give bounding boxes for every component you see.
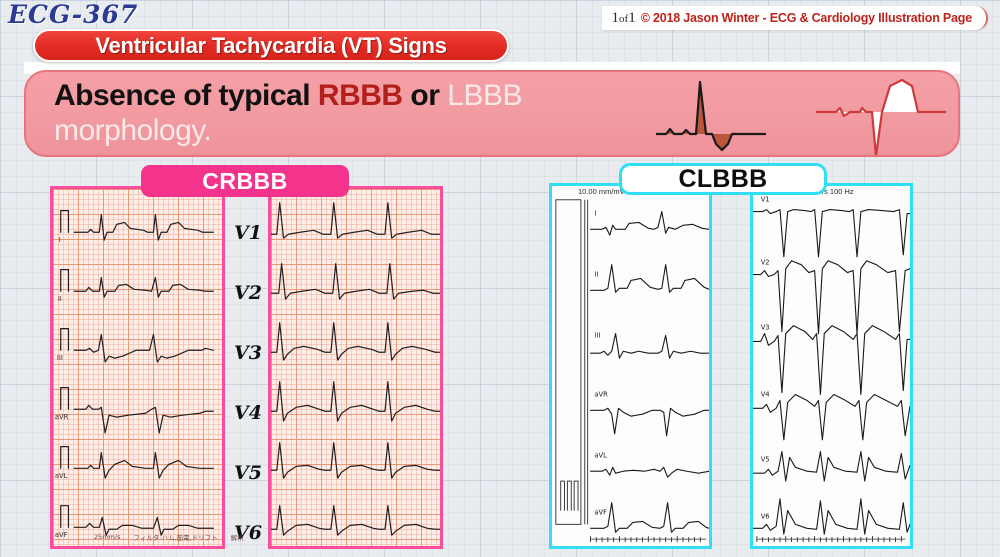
footer-filter: フィルタ:ハム,筋電,ドリフト xyxy=(134,532,218,542)
ecg-tracing-crbbb-limb: I II III aVR aVL aVF xyxy=(53,189,222,546)
lead-label-v3: V3 xyxy=(228,342,268,364)
svg-text:V6: V6 xyxy=(761,512,770,520)
svg-text:V3: V3 xyxy=(761,324,770,332)
svg-text:II: II xyxy=(58,295,62,303)
slide-code: ECG-367 xyxy=(8,0,138,29)
ecg-tracing-clbbb-limb: I II III aVR aVL aVF xyxy=(552,186,709,546)
ecg-panel-crbbb-precordial[interactable] xyxy=(268,186,443,549)
lead-label-v5: V5 xyxy=(228,462,268,484)
ecg-tracing-crbbb-precordial xyxy=(271,189,440,546)
ecg-panel-crbbb-limb[interactable]: I II III aVR aVL aVF xyxy=(50,186,225,549)
svg-text:V2: V2 xyxy=(761,259,770,267)
svg-text:aVR: aVR xyxy=(55,413,69,421)
statement-banner: Absence of typical RBBB or LBBB morpholo… xyxy=(24,70,960,157)
svg-text:aVR: aVR xyxy=(594,390,608,398)
section-tab-crbbb[interactable]: CRBBB xyxy=(141,165,349,197)
ecg-tracing-clbbb-precordial: V1 V2 V3 V4 V5 V6 xyxy=(753,186,910,546)
rbbb-complex-illustration xyxy=(656,72,816,155)
page-of: of xyxy=(619,13,628,25)
slide-title-bar: Ventricular Tachycardia (VT) Signs xyxy=(33,29,509,62)
svg-text:V5: V5 xyxy=(761,455,770,463)
page-current: 1 xyxy=(612,10,620,26)
precordial-lead-label-column: V1 V2 V3 V4 V5 V6 xyxy=(228,186,268,549)
ecg-filter-label-clbbb: /s 100 Hz xyxy=(822,187,854,196)
lbbb-complex-illustration xyxy=(816,72,960,155)
copyright-banner: 1of1 © 2018 Jason Winter - ECG & Cardiol… xyxy=(602,6,988,30)
footer-analysis: 解析 xyxy=(231,532,244,542)
ecg-footer-crbbb: 25mm/s フィルタ:ハム,筋電,ドリフト 解析 xyxy=(52,528,223,545)
ecg-panel-clbbb-limb[interactable]: I II III aVR aVL aVF xyxy=(549,183,712,549)
svg-text:II: II xyxy=(594,270,598,278)
ecg-gain-label-clbbb: 10.00 mm/mV xyxy=(578,187,625,196)
section-tab-clbbb-label: CLBBB xyxy=(679,165,768,194)
statement-rbbb: RBBB xyxy=(318,79,403,112)
statement-part-2: or xyxy=(403,79,448,112)
svg-text:aVL: aVL xyxy=(594,451,607,459)
svg-text:III: III xyxy=(57,354,63,362)
statement-part-1: Absence of typical xyxy=(54,79,318,112)
svg-text:aVF: aVF xyxy=(594,508,607,516)
section-tab-clbbb[interactable]: CLBBB xyxy=(619,163,827,195)
svg-text:I: I xyxy=(59,236,61,244)
svg-text:III: III xyxy=(594,331,600,339)
page-indicator: 1of1 xyxy=(612,10,636,27)
statement-text: Absence of typical RBBB or LBBB morpholo… xyxy=(54,78,654,149)
copyright-notice: © 2018 Jason Winter - ECG & Cardiology I… xyxy=(641,11,972,25)
lead-label-v4: V4 xyxy=(228,402,268,424)
lead-label-v2: V2 xyxy=(228,282,268,304)
svg-text:aVL: aVL xyxy=(55,472,68,480)
footer-paper-speed: 25mm/s xyxy=(94,533,121,541)
ecg-panel-clbbb-precordial[interactable]: V1 V2 V3 V4 V5 V6 xyxy=(750,183,913,549)
svg-text:V4: V4 xyxy=(761,390,770,398)
section-tab-crbbb-label: CRBBB xyxy=(202,168,288,195)
page-title: Ventricular Tachycardia (VT) Signs xyxy=(95,33,446,59)
svg-text:V1: V1 xyxy=(761,196,770,204)
lead-label-v1: V1 xyxy=(228,222,268,244)
page-total: 1 xyxy=(628,10,636,26)
svg-text:I: I xyxy=(594,209,596,217)
